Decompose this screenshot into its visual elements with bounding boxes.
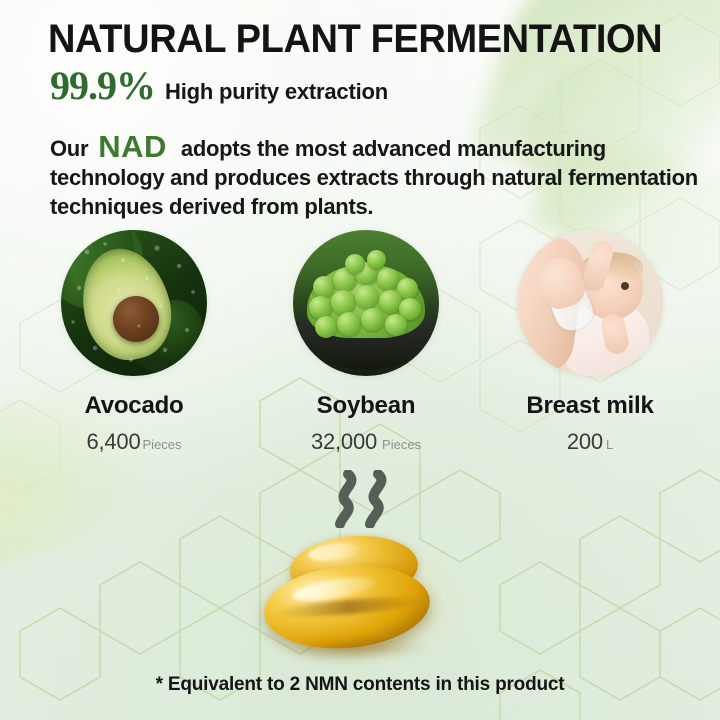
amount-unit: Pieces [382, 437, 421, 452]
avocado-photo [61, 230, 207, 376]
amount-value: 200 [567, 429, 603, 455]
purity-row: 99.9% High purity extraction [50, 66, 388, 106]
ingredient-name: Avocado [46, 392, 222, 420]
ingredient-amount: 200 L [500, 429, 680, 455]
purity-caption: High purity extraction [165, 79, 388, 105]
ingredient-name: Soybean [276, 392, 456, 420]
golden-softgel-capsules [252, 536, 468, 652]
amount-unit: L [606, 437, 613, 452]
breast-milk-photo [517, 230, 663, 376]
ingredient-item-soybean: Soybean 32,000 Pieces [276, 230, 456, 455]
brand-name-nad: NAD [88, 129, 181, 164]
amount-value: 6,400 [86, 429, 140, 455]
description-paragraph: OurNADadopts the most advanced manufactu… [50, 132, 702, 221]
ingredient-amount: 6,400 Pieces [46, 429, 222, 455]
product-infographic: NATURAL PLANT FERMENTATION 99.9% High pu… [0, 0, 720, 720]
footnote: * Equivalent to 2 NMN contents in this p… [0, 674, 720, 696]
soybean-photo [293, 230, 439, 376]
amount-value: 32,000 [311, 429, 377, 455]
ingredient-item-avocado: Avocado 6,400 Pieces [46, 230, 222, 455]
headline: NATURAL PLANT FERMENTATION [48, 16, 656, 62]
purity-percent: 99.9% [50, 66, 155, 106]
amount-unit: Pieces [143, 437, 182, 452]
ingredient-item-breast-milk: Breast milk 200 L [500, 230, 680, 455]
ingredient-name: Breast milk [500, 392, 680, 420]
ingredient-amount: 32,000 Pieces [276, 429, 456, 455]
wavy-arrow-icon [326, 470, 396, 533]
paragraph-lead: Our [50, 136, 88, 161]
